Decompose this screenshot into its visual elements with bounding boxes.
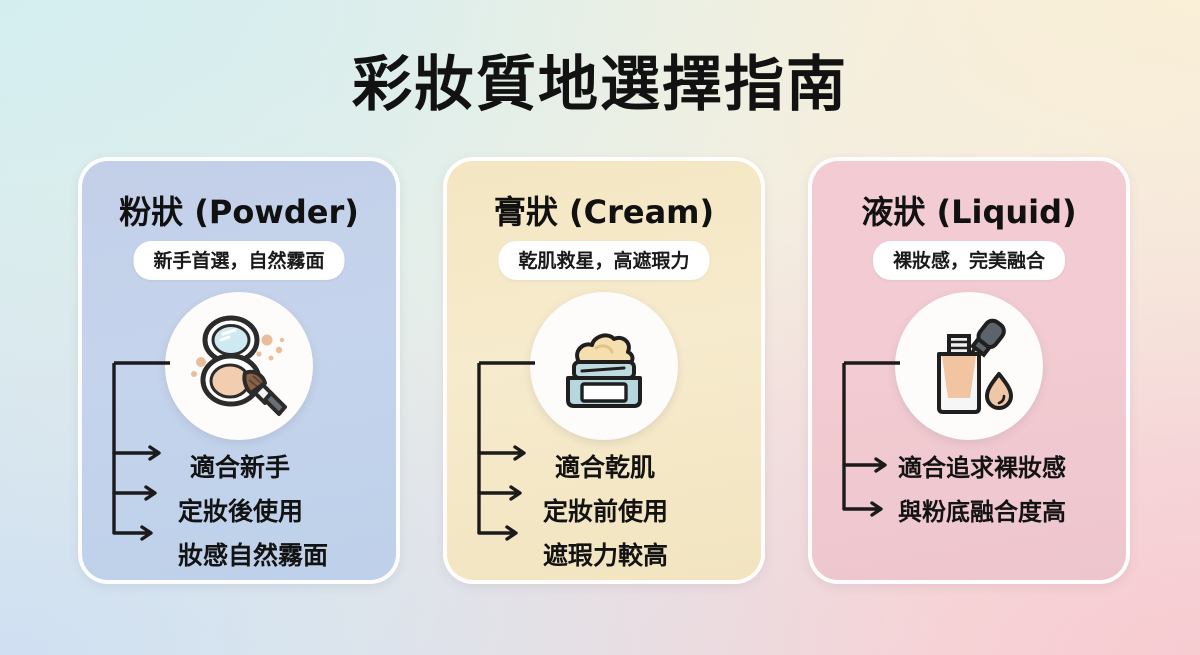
card-title-powder: 粉狀 (Powder) <box>82 187 396 233</box>
list-item: 妝感自然霧面 <box>178 534 404 578</box>
card-title-liquid: 液狀 (Liquid) <box>812 187 1126 233</box>
list-item: 適合乾肌 <box>543 446 769 490</box>
card-liquid[interactable]: 液狀 (Liquid) 裸妝感，完美融合 <box>808 157 1130 584</box>
bullet-list-powder: 適合新手 定妝後使用 妝感自然霧面 <box>178 446 404 578</box>
list-item: 定妝前使用 <box>543 490 769 534</box>
bullet-list-liquid: 適合追求裸妝感 與粉底融合度高 <box>898 446 1124 534</box>
card-powder[interactable]: 粉狀 (Powder) 新手首選，自然霧面 <box>78 157 400 584</box>
card-badge-liquid: 裸妝感，完美融合 <box>873 241 1065 280</box>
list-item: 適合追求裸妝感 <box>898 446 1124 490</box>
card-title-cream: 膏狀 (Cream) <box>447 187 761 233</box>
list-item: 與粉底融合度高 <box>898 490 1124 534</box>
bracket-connector-powder <box>110 357 174 547</box>
list-item: 遮瑕力較高 <box>543 534 769 578</box>
foundation-bottle-dropper-icon <box>915 312 1023 420</box>
list-item: 定妝後使用 <box>178 490 404 534</box>
icon-bubble-cream <box>530 292 678 440</box>
bullet-list-cream: 適合乾肌 定妝前使用 遮瑕力較高 <box>543 446 769 578</box>
cream-jar-icon <box>552 314 656 418</box>
powder-compact-brush-icon <box>183 310 295 422</box>
icon-bubble-powder <box>165 292 313 440</box>
card-badge-cream: 乾肌救星，高遮瑕力 <box>498 241 709 280</box>
infographic-canvas: 彩妝質地選擇指南 粉狀 (Powder) 新手首選，自然霧面 <box>0 0 1200 655</box>
bracket-connector-cream <box>475 357 539 547</box>
page-title: 彩妝質地選擇指南 <box>0 36 1200 123</box>
card-cream[interactable]: 膏狀 (Cream) 乾肌救星，高遮瑕力 <box>443 157 765 584</box>
list-item: 適合新手 <box>178 446 404 490</box>
icon-bubble-liquid <box>895 292 1043 440</box>
bracket-connector-liquid <box>840 357 904 547</box>
card-badge-powder: 新手首選，自然霧面 <box>133 241 344 280</box>
